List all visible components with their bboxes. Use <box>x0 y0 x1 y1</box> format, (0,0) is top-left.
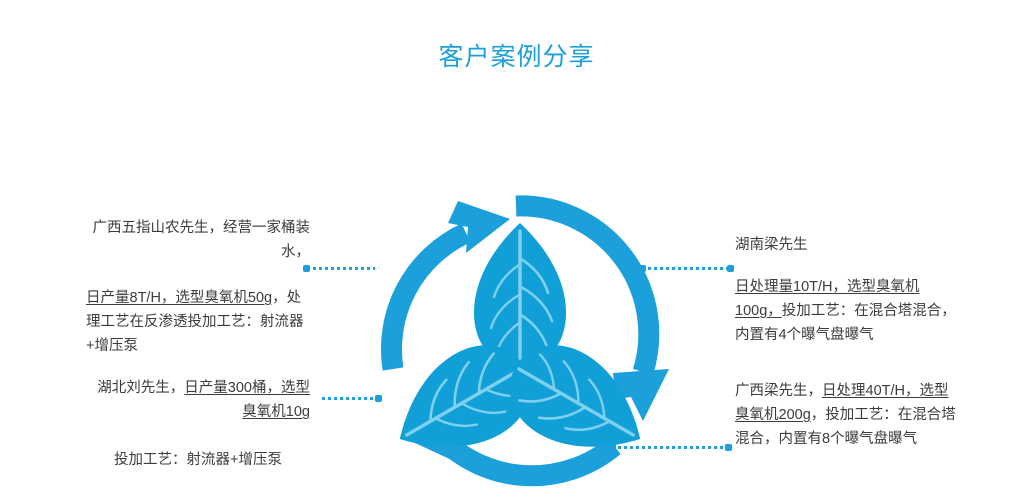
case-1-intro-line-1: 广西五指山农先生，经营一家桶装 <box>86 216 310 240</box>
connector-right-top-dot-outer <box>727 265 734 272</box>
case-1-spec: 日产量8T/H，选型臭氧机50g <box>86 290 272 306</box>
case-4-detail: 广西梁先生，日处理40T/H，选型臭氧机200g，投加工艺：在混合塔混合，内置有… <box>735 379 959 451</box>
case-2-spec: 日产量300桶，选型臭氧机10g <box>184 380 310 420</box>
case-3-customer: 湖南梁先生 <box>735 233 957 257</box>
case-block-right-bottom: 广西梁先生，日处理40T/H，选型臭氧机200g，投加工艺：在混合塔混合，内置有… <box>735 379 959 451</box>
case-block-left-top: 广西五指山农先生，经营一家桶装 水， 日产量8T/H，选型臭氧机50g，处理工艺… <box>86 216 310 358</box>
case-1-intro: 广西五指山农先生，经营一家桶装 水， <box>86 216 310 264</box>
case-block-right-top: 湖南梁先生 日处理量10T/H，选型臭氧机100g，投加工艺：在混合塔混合，内置… <box>735 233 957 347</box>
case-1-intro-line-2: 水， <box>86 240 310 264</box>
case-4-customer: 广西梁先生， <box>735 383 822 399</box>
case-2-customer: 湖北刘先生， <box>97 380 184 396</box>
case-block-left-bottom: 湖北刘先生，日产量300桶，选型臭氧机10g 投加工艺：射流器+增压泵 <box>86 376 310 472</box>
connector-right-bottom-dot-outer <box>725 444 732 451</box>
eco-recycle-leaves-icon <box>358 183 682 487</box>
case-3-detail: 日处理量10T/H，选型臭氧机100g，投加工艺：在混合塔混合，内置有4个曝气盘… <box>735 275 957 347</box>
connector-left-top-dot <box>303 265 310 272</box>
case-2-detail: 投加工艺：射流器+增压泵 <box>86 448 310 472</box>
page-title: 客户案例分享 <box>0 40 1033 74</box>
case-1-detail: 日产量8T/H，选型臭氧机50g，处理工艺在反渗透投加工艺：射流器+增压泵 <box>86 286 310 358</box>
case-2-intro: 湖北刘先生，日产量300桶，选型臭氧机10g <box>86 376 310 424</box>
